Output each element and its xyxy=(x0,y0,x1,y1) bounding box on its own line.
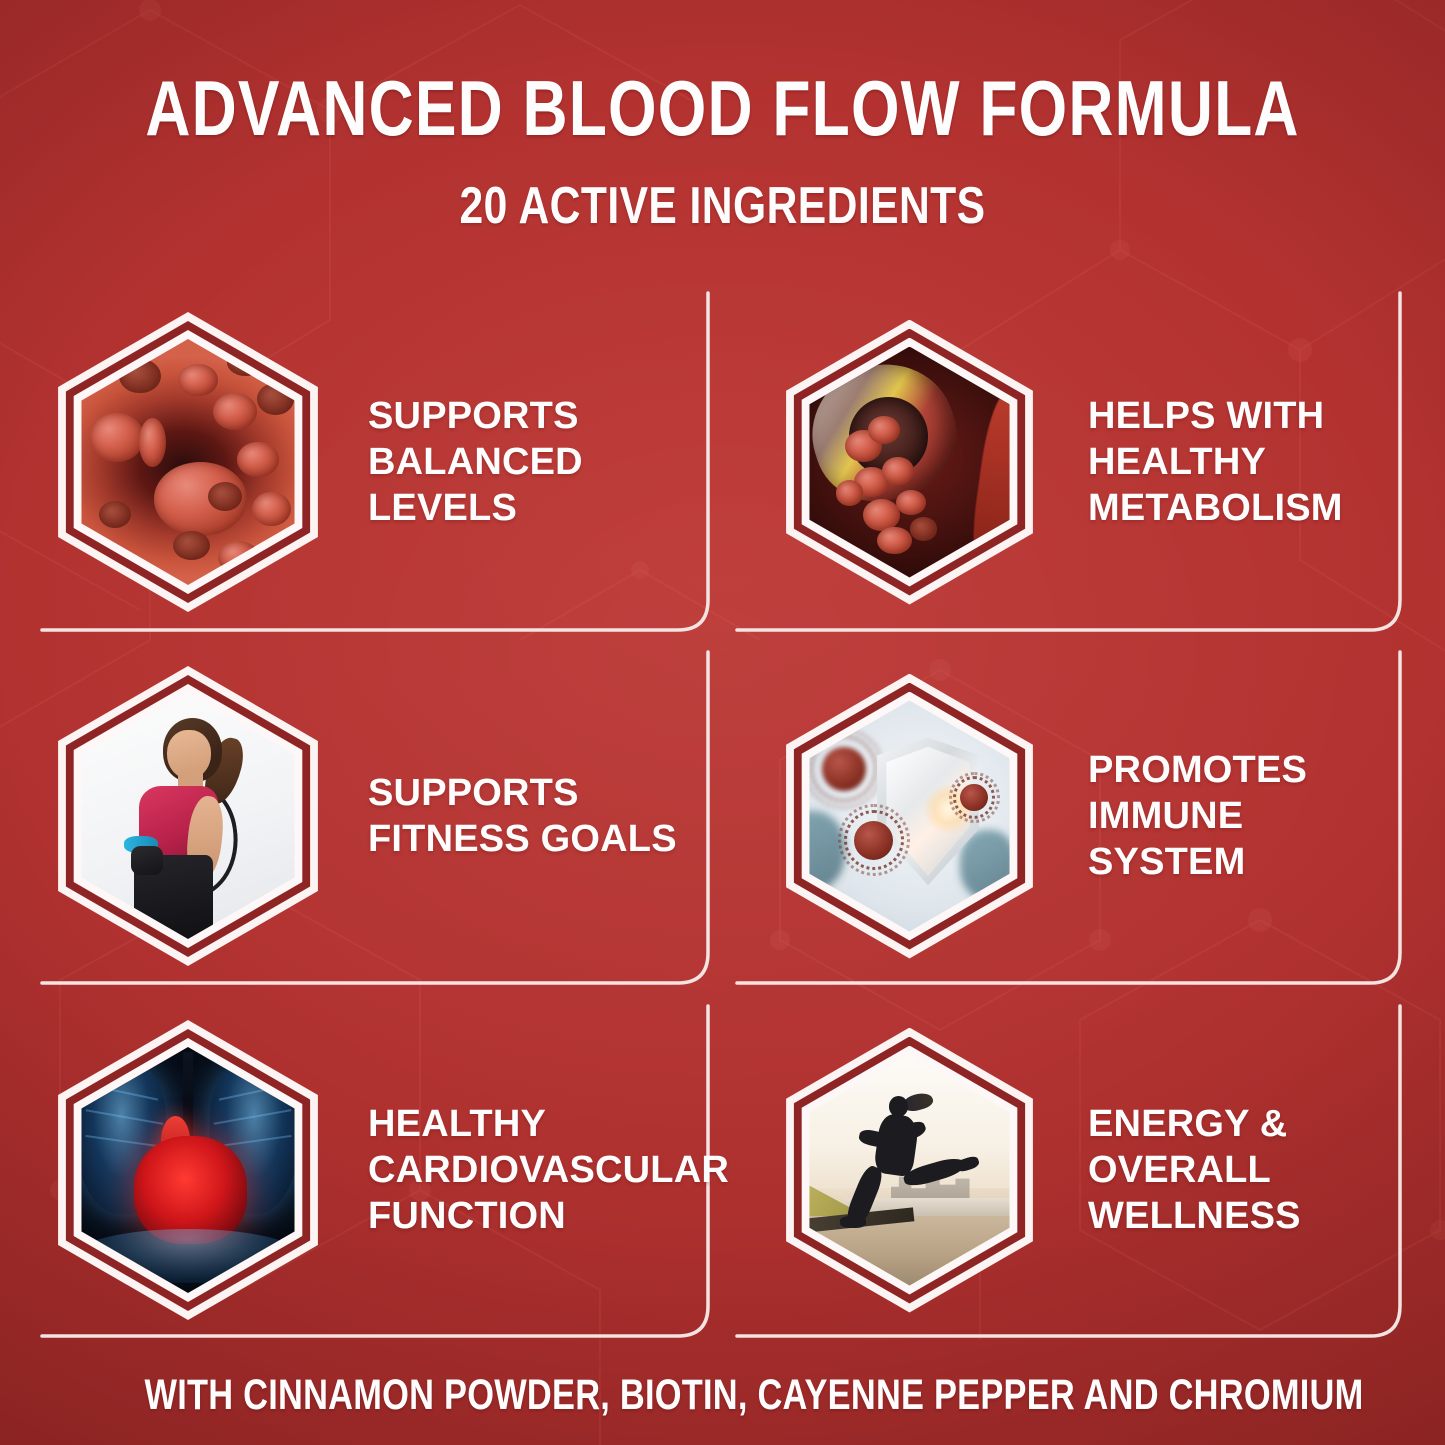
feature-label: ENERGY & OVERALL WELLNESS xyxy=(1088,1101,1400,1239)
page-subtitle: 20 ACTIVE INGREDIENTS xyxy=(130,177,1315,235)
feature-hexagon-frame xyxy=(38,1020,338,1320)
page-title: ADVANCED BLOOD FLOW FORMULA xyxy=(145,66,1301,150)
feature-label: HEALTHY CARDIOVASCULAR FUNCTION xyxy=(368,1101,729,1239)
footer-ingredients-text: WITH CINNAMON POWDER, BIOTIN, CAYENNE PE… xyxy=(145,1371,1301,1419)
feature-label: PROMOTES IMMUNE SYSTEM xyxy=(1088,747,1400,885)
feature-cell-promotes-immune-system: PROMOTES IMMUNE SYSTEM xyxy=(735,652,1400,980)
feature-cell-supports-fitness-goals: SUPPORTS FITNESS GOALS xyxy=(38,652,698,980)
feature-label: SUPPORTS FITNESS GOALS xyxy=(368,770,698,862)
feature-hexagon-frame xyxy=(767,320,1052,605)
feature-cell-helps-with-healthy-metabolism: HELPS WITH HEALTHY METABOLISM xyxy=(735,297,1400,627)
feature-label: HELPS WITH HEALTHY METABOLISM xyxy=(1088,393,1400,531)
feature-hexagon-frame xyxy=(38,312,338,612)
feature-hexagon-frame xyxy=(38,666,338,966)
feature-cell-healthy-cardiovascular-function: HEALTHY CARDIOVASCULAR FUNCTION xyxy=(38,1006,698,1334)
feature-cell-supports-balanced-levels: SUPPORTS BALANCED LEVELS xyxy=(38,297,698,627)
feature-cell-energy-overall-wellness: ENERGY & OVERALL WELLNESS xyxy=(735,1006,1400,1334)
feature-label: SUPPORTS BALANCED LEVELS xyxy=(368,393,698,531)
product-infographic-poster: ADVANCED BLOOD FLOW FORMULA 20 ACTIVE IN… xyxy=(0,0,1445,1445)
feature-hexagon-frame xyxy=(767,674,1052,959)
feature-hexagon-frame xyxy=(767,1028,1052,1313)
